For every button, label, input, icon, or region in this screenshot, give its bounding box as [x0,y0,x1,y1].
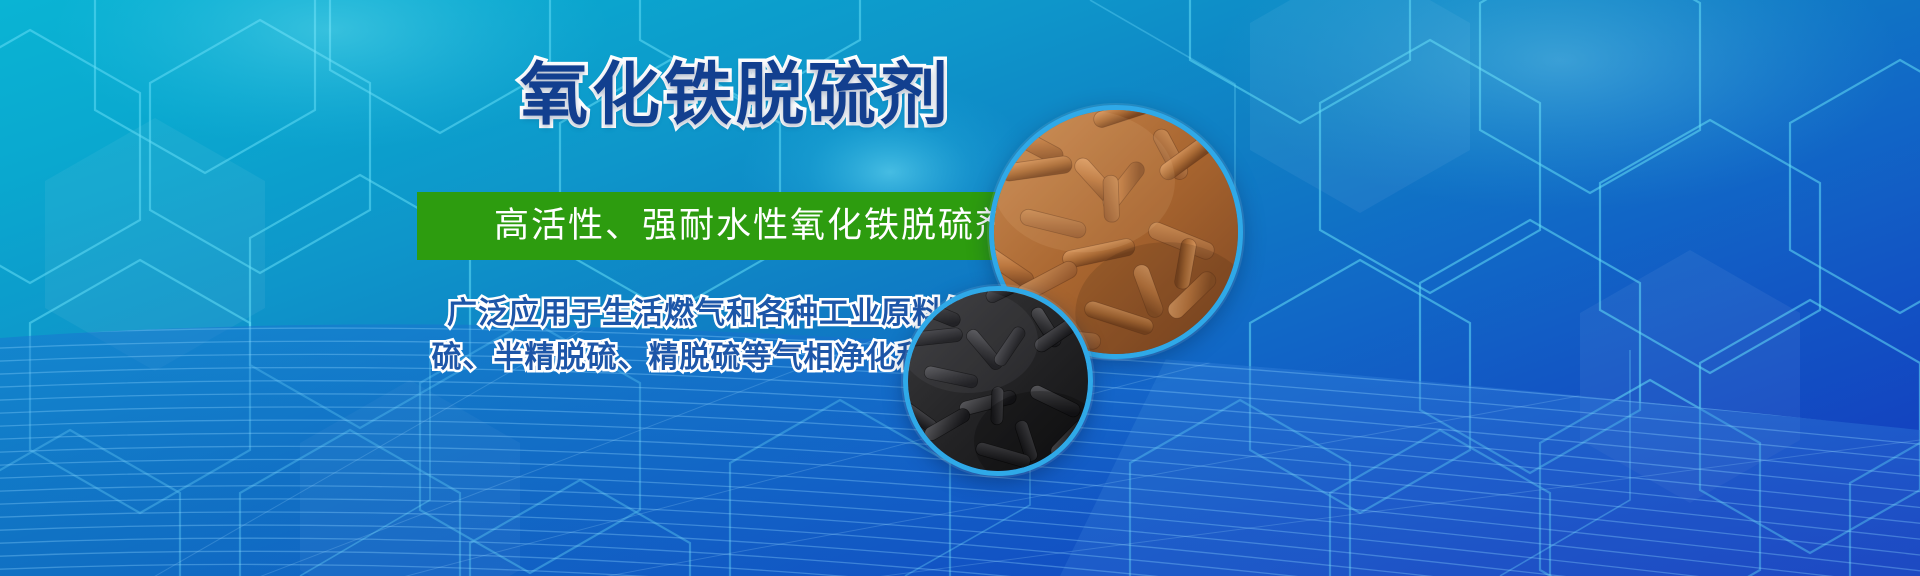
activated-carbon-pellets-icon [908,291,1088,471]
banner-content: 氧化铁脱硫剂 高活性、强耐水性氧化铁脱硫剂 广泛应用于生活燃气和各种工业原料气的… [0,0,1920,576]
product-banner: 氧化铁脱硫剂 高活性、强耐水性氧化铁脱硫剂 广泛应用于生活燃气和各种工业原料气的… [0,0,1920,576]
highlight-bar-text: 高活性、强耐水性氧化铁脱硫剂 [494,209,1012,244]
banner-title: 氧化铁脱硫剂 [520,62,952,130]
activated-carbon-image [903,286,1093,476]
